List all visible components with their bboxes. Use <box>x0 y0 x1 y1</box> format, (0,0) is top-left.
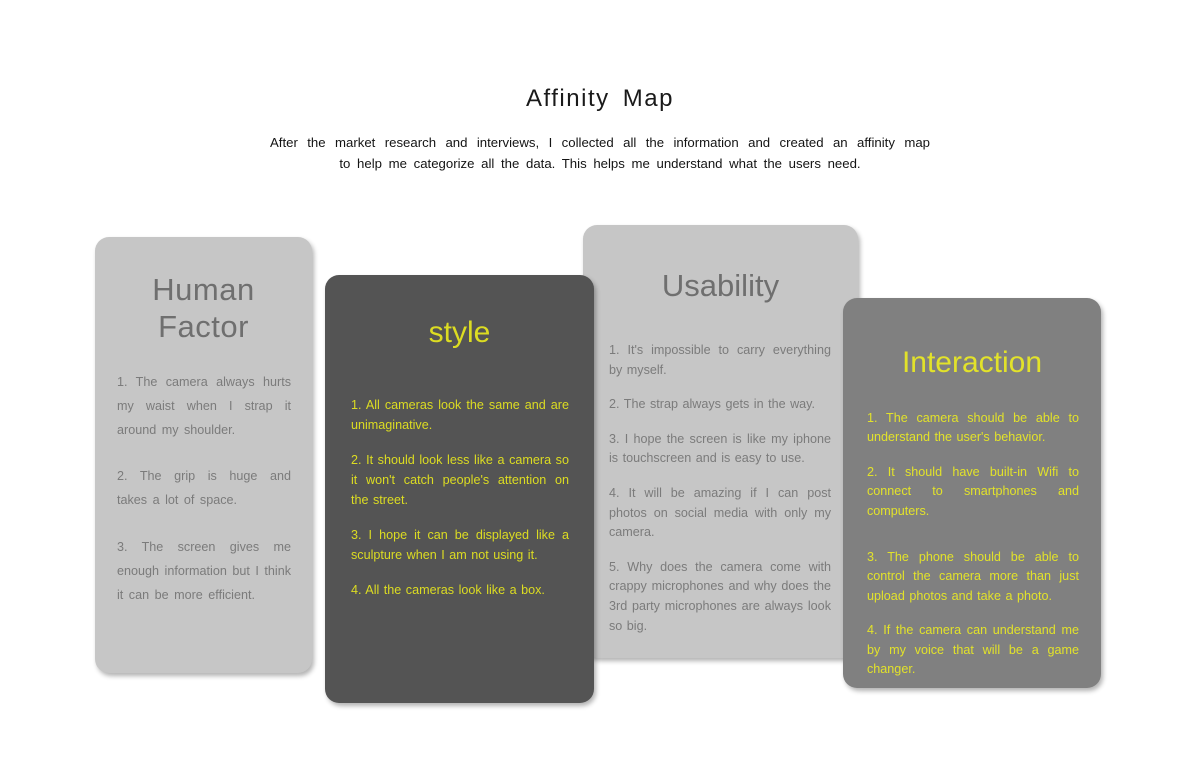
card-note: 2. The grip is huge and takes a lot of s… <box>117 465 291 513</box>
affinity-card-human-factor[interactable]: Human Factor 1. The camera always hurts … <box>95 237 312 673</box>
card-note: 1. The camera should be able to understa… <box>867 409 1079 448</box>
card-note: 3. The phone should be able to control t… <box>867 548 1079 606</box>
affinity-card-interaction[interactable]: Interaction 1. The camera should be able… <box>843 298 1101 688</box>
card-title-interaction: Interaction <box>843 345 1101 381</box>
card-note: 2. It should look less like a camera so … <box>351 450 569 510</box>
card-note: 2. The strap always gets in the way. <box>609 395 831 415</box>
card-body-usability: 1. It's impossible to carry everything b… <box>609 341 831 636</box>
card-body-style: 1. All cameras look the same and are uni… <box>351 395 569 600</box>
page-subtitle-line-2: to help me categorize all the data. This… <box>270 153 930 174</box>
card-note: 1. The camera always hurts my waist when… <box>117 371 291 442</box>
card-body-interaction: 1. The camera should be able to understa… <box>867 409 1079 679</box>
card-note: 4. If the camera can understand me by my… <box>867 621 1079 679</box>
card-note: 4. All the cameras look like a box. <box>351 580 569 600</box>
card-title-line-2: Factor <box>158 309 249 344</box>
page-subtitle-line-1: After the market research and interviews… <box>270 132 930 153</box>
page-title: Affinity Map <box>0 84 1200 114</box>
card-note: 1. All cameras look the same and are uni… <box>351 395 569 435</box>
card-title-usability: Usability <box>583 267 858 304</box>
card-note: 3. I hope the screen is like my iphone i… <box>609 430 831 469</box>
card-title-line-1: Human <box>152 272 254 307</box>
affinity-map-page: Affinity Map After the market research a… <box>0 0 1200 759</box>
affinity-card-style[interactable]: style 1. All cameras look the same and a… <box>325 275 594 703</box>
card-note: 4. It will be amazing if I can post phot… <box>609 484 831 543</box>
card-note: 2. It should have built-in Wifi to conne… <box>867 463 1079 521</box>
card-note: 3. The screen gives me enough informatio… <box>117 536 291 607</box>
card-body-human-factor: 1. The camera always hurts my waist when… <box>117 371 291 607</box>
card-note: 5. Why does the camera come with crappy … <box>609 558 831 636</box>
card-note: 3. I hope it can be displayed like a scu… <box>351 525 569 565</box>
card-title-style: style <box>325 315 594 351</box>
page-header: Affinity Map After the market research a… <box>0 84 1200 174</box>
card-title-human-factor: Human Factor <box>95 271 312 345</box>
card-note: 1. It's impossible to carry everything b… <box>609 341 831 380</box>
page-subtitle: After the market research and interviews… <box>270 132 930 174</box>
affinity-card-usability[interactable]: Usability 1. It's impossible to carry ev… <box>583 225 858 658</box>
